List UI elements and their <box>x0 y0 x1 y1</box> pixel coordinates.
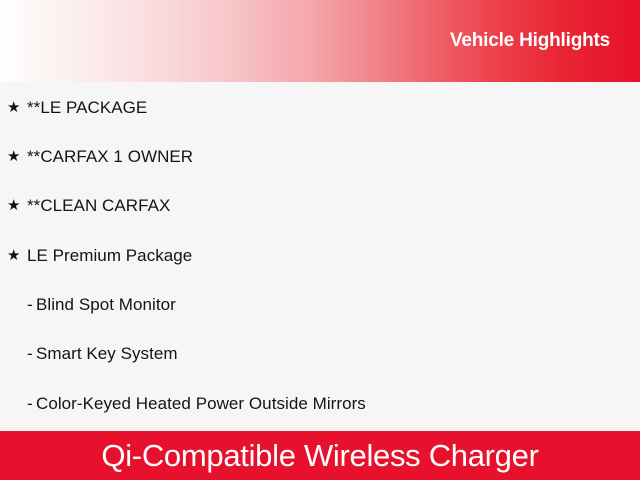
vehicle-highlights-list: ★**LE PACKAGE★**CARFAX 1 OWNER★**CLEAN C… <box>0 82 640 431</box>
dash-bullet-icon: - <box>27 295 36 315</box>
feature-banner-label: Qi-Compatible Wireless Charger <box>101 438 538 474</box>
list-item-label: Smart Key System <box>36 343 178 365</box>
star-bullet-icon: ★ <box>7 196 27 216</box>
list-item-label: **CLEAN CARFAX <box>27 195 170 217</box>
list-item-label: **CARFAX 1 OWNER <box>27 146 193 168</box>
list-item-label: Blind Spot Monitor <box>36 294 176 316</box>
vehicle-highlights-slide: Vehicle Highlights ★**LE PACKAGE★**CARFA… <box>0 0 640 480</box>
list-item-label: LE Premium Package <box>27 245 192 267</box>
list-item: ★**LE PACKAGE <box>0 96 640 120</box>
feature-banner: Qi-Compatible Wireless Charger <box>0 431 640 480</box>
page-title: Vehicle Highlights <box>450 30 610 52</box>
dash-bullet-icon: - <box>27 344 36 364</box>
star-bullet-icon: ★ <box>7 246 27 266</box>
list-item-label: Color-Keyed Heated Power Outside Mirrors <box>36 393 366 415</box>
header-gradient-band: Vehicle Highlights <box>0 0 640 82</box>
list-item: ★**CARFAX 1 OWNER <box>0 145 640 169</box>
list-item: ★**CLEAN CARFAX <box>0 194 640 218</box>
list-item: -Blind Spot Monitor <box>0 293 640 317</box>
star-bullet-icon: ★ <box>7 98 27 118</box>
list-item: -Smart Key System <box>0 342 640 366</box>
list-item: -Color-Keyed Heated Power Outside Mirror… <box>0 392 640 416</box>
star-bullet-icon: ★ <box>7 147 27 167</box>
dash-bullet-icon: - <box>27 394 36 414</box>
list-item: ★LE Premium Package <box>0 244 640 268</box>
list-item-label: **LE PACKAGE <box>27 97 147 119</box>
